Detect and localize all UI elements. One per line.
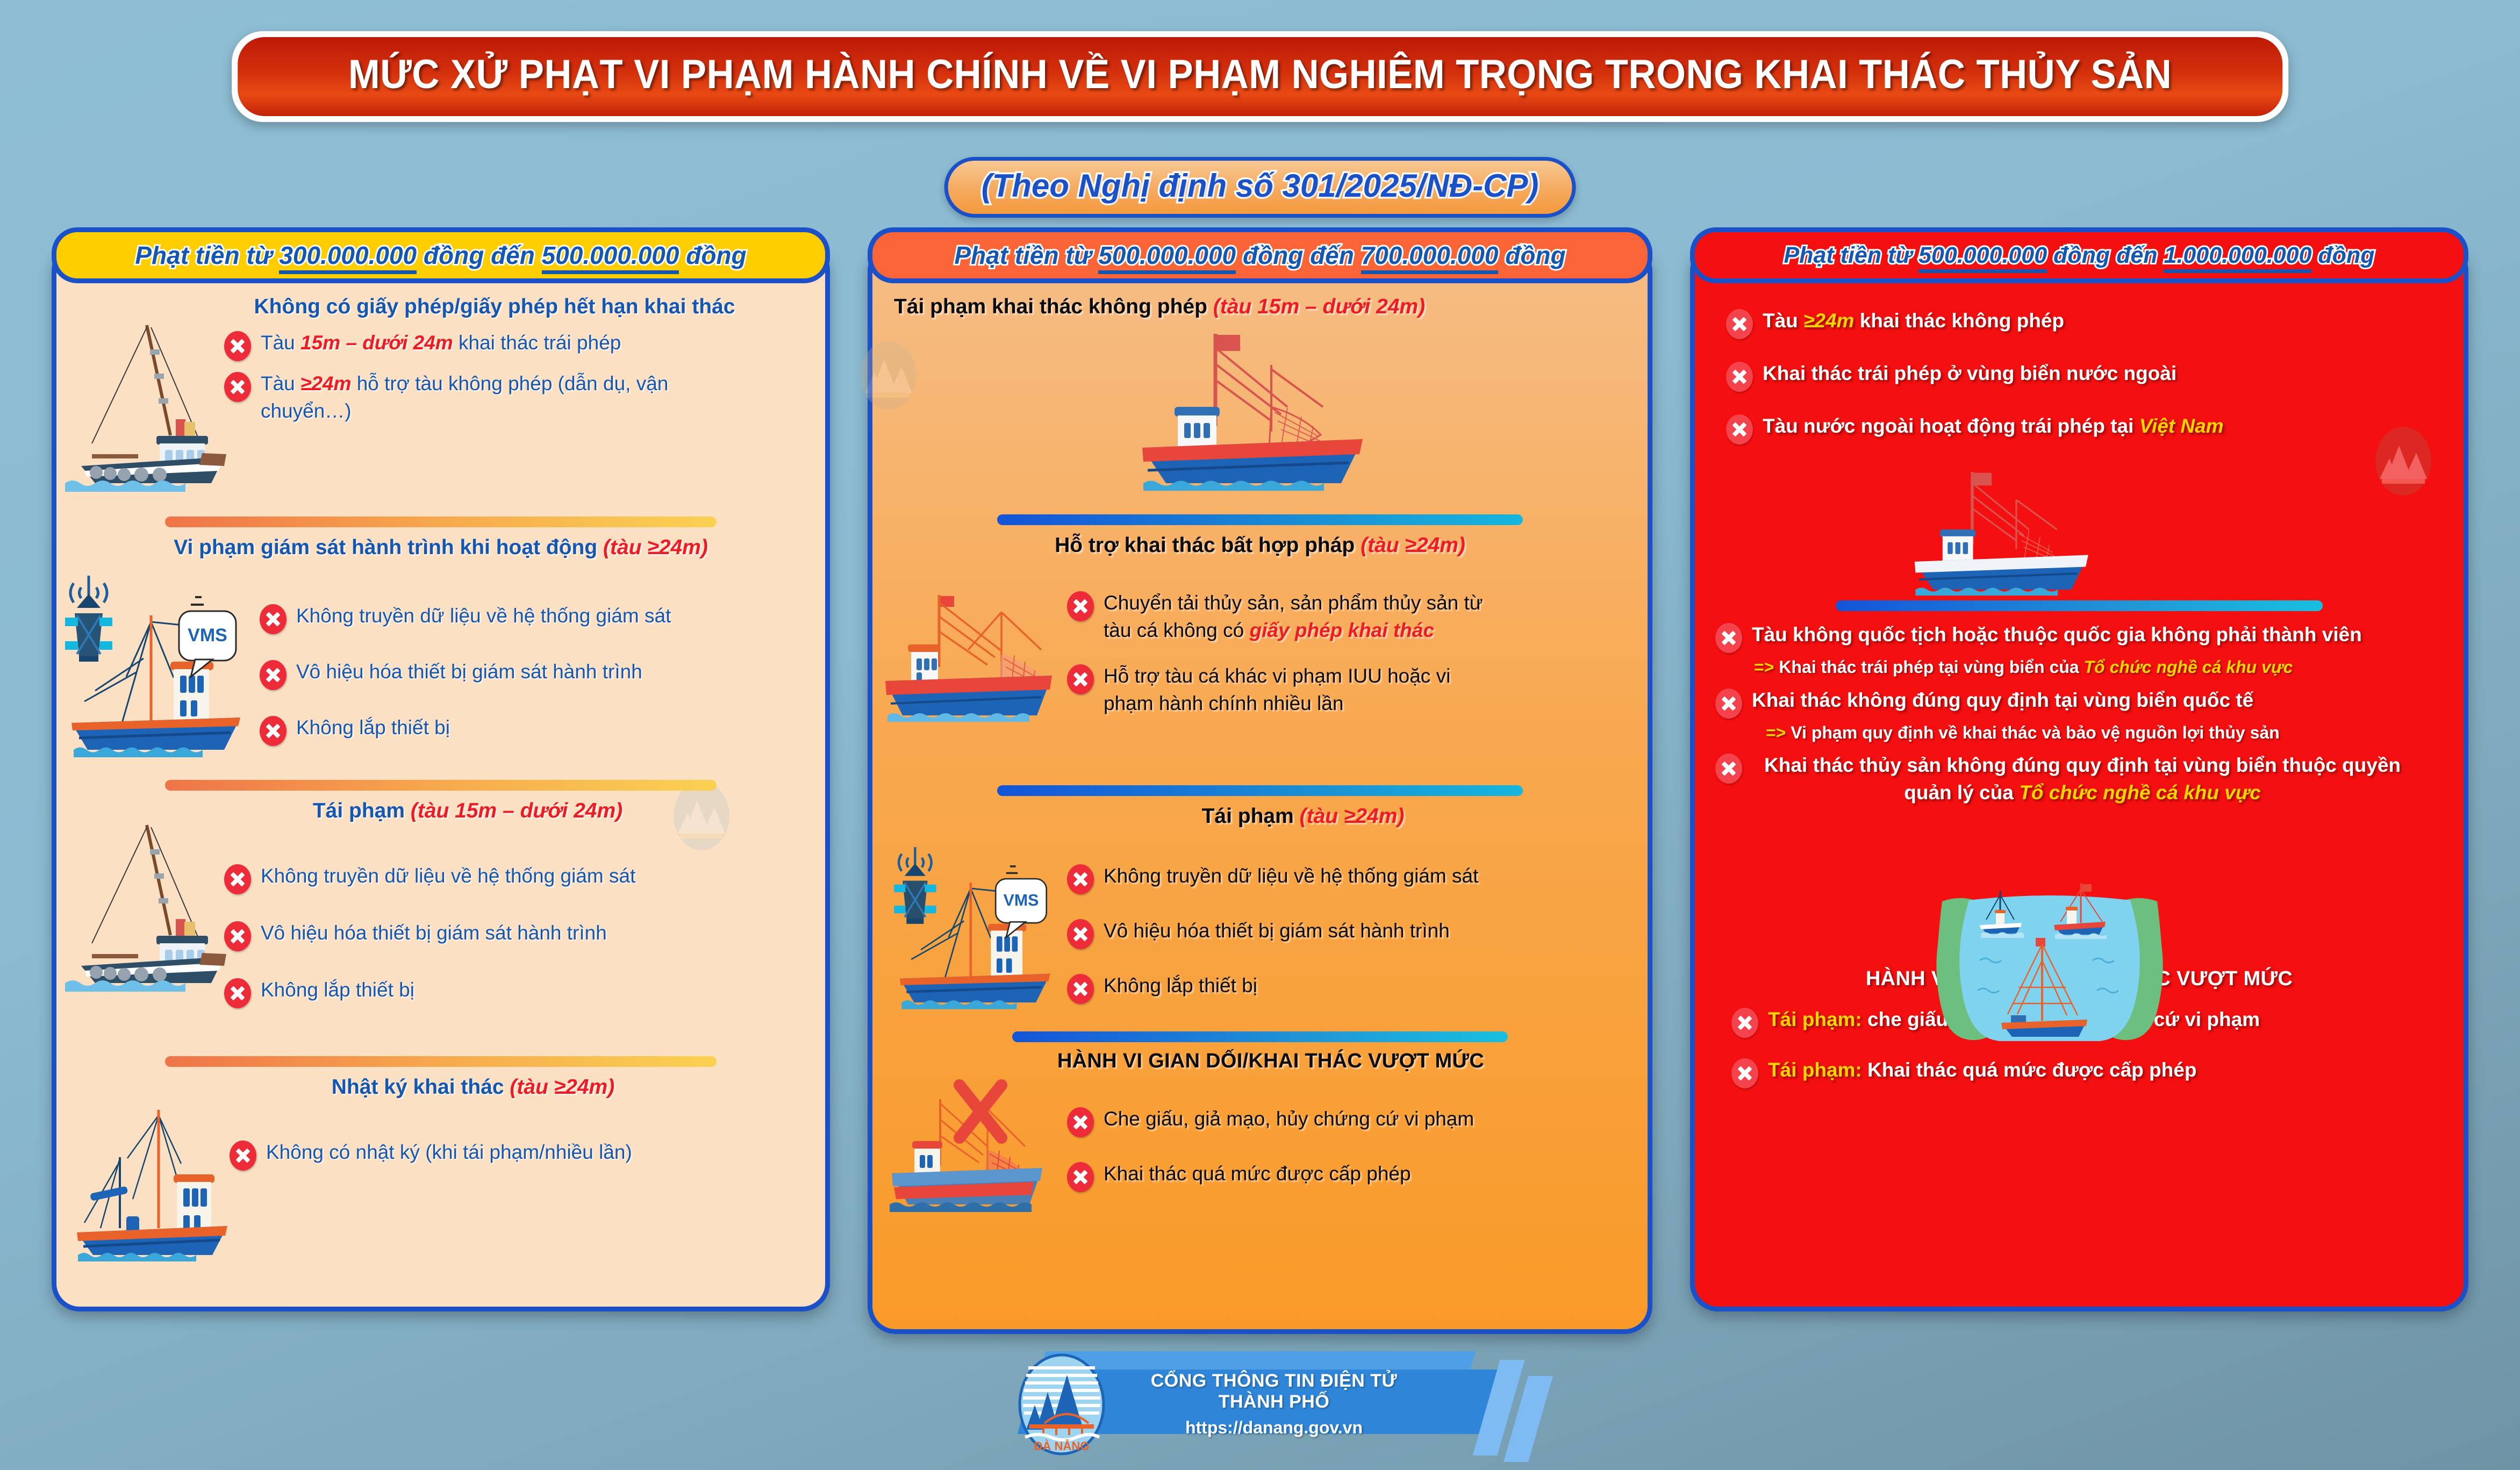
list-item-text: Không có nhật ký (khi tái phạm/nhiều lần…: [266, 1138, 632, 1166]
cross-icon: [1731, 1008, 1758, 1038]
list-item: Khai thác không đúng quy định tại vùng b…: [1715, 686, 2449, 719]
list-item: Tàu 15m – dưới 24m khai thác trái phép: [224, 329, 813, 361]
block-title: Nhật ký khai thác (tàu ≥24m): [68, 1074, 813, 1101]
cross-icon: [1067, 1162, 1094, 1192]
list-item-text: Không truyền dữ liệu về hệ thống giám sá…: [261, 862, 635, 890]
block-title: HÀNH VI GIAN DỐI/KHAI THÁC VƯỢT MỨC: [884, 1050, 1636, 1073]
list-item: Tàu không quốc tịch hoặc thuộc quốc gia …: [1715, 621, 2449, 653]
column-2-body: Tái phạm khai thác không phép (tàu 15m –…: [872, 294, 1648, 1227]
list-item-text: Vô hiệu hóa thiết bị giám sát hành trình: [261, 919, 607, 946]
list-item-text: Chuyển tải thủy sản, sản phẩm thủy sản t…: [1104, 589, 1512, 644]
title-banner-inner: MỨC XỬ PHẠT VI PHẠM HÀNH CHÍNH VỀ VI PHẠ…: [238, 37, 2282, 116]
list-item-text: Che giấu, giả mạo, hủy chứng cứ vi phạm: [1104, 1105, 1474, 1132]
list-item-text: Khai thác quá mức được cấp phép: [1104, 1160, 1411, 1187]
penalty-column-3: Phạt tiền từ 500.000.000 đồng đến 1.000.…: [1690, 243, 2468, 1311]
block-items: Không truyền dữ liệu về hệ thống giám sá…: [260, 602, 813, 746]
penalty-column-1: Phạt tiền từ 300.000.000 đồng đến 500.00…: [52, 243, 830, 1311]
columns-container: Phạt tiền từ 300.000.000 đồng đến 500.00…: [0, 243, 2520, 1334]
list-item: Tàu ≥24m hỗ trợ tàu không phép (dẫn dụ, …: [224, 370, 813, 425]
list-item-text: Không lắp thiết bị: [296, 714, 450, 741]
cross-icon: [1067, 864, 1094, 894]
block-items: Chuyển tải thủy sản, sản phẩm thủy sản t…: [1067, 589, 1636, 717]
cross-icon: [1067, 919, 1094, 949]
section-divider: [1836, 600, 2323, 611]
svg-text:VMS: VMS: [1004, 892, 1039, 909]
block-items: Che giấu, giả mạo, hủy chứng cứ vi phạm …: [1067, 1105, 1636, 1192]
block-fishing-logbook: Nhật ký khai thác (tàu ≥24m): [68, 1074, 813, 1279]
list-item: Không lắp thiết bị: [224, 976, 813, 1008]
cross-icon: [224, 331, 251, 361]
column-1-body: Không có giấy phép/giấy phép hết hạn kha…: [56, 294, 825, 1279]
block-title: Không có giấy phép/giấy phép hết hạn kha…: [68, 294, 813, 320]
list-item-text: Tàu ≥24m khai thác không phép: [1763, 307, 2064, 334]
list-item: Vô hiệu hóa thiết bị giám sát hành trình: [1067, 917, 1636, 949]
block-repeat-unlicensed: Tái phạm khai thác không phép (tàu 15m –…: [884, 294, 1636, 520]
logo-label: ĐÀ NẴNG: [1034, 1439, 1090, 1453]
column-3-bottom-items: Tái phạm: che giấu, giả mạo, hủy chứng c…: [1731, 1006, 2449, 1088]
bottom-title: HÀNH VI GIAN DỐI/KHAI THÁC VƯỢT MỨC: [1710, 967, 2449, 991]
block-vms-violation: Vi phạm giám sát hành trình khi hoạt độn…: [68, 535, 813, 782]
list-item: Vô hiệu hóa thiết bị giám sát hành trình: [224, 919, 813, 951]
cross-icon: [260, 660, 287, 690]
list-item-text: Tàu nước ngoài hoạt động trái phép tại V…: [1763, 412, 2224, 440]
cross-icon: [1067, 591, 1094, 621]
sub-note: => Khai thác trái phép tại vùng biển của…: [1754, 656, 2449, 679]
fishing-boat-icon: [68, 1094, 230, 1266]
list-item-text: Tàu ≥24m hỗ trợ tàu không phép (dẫn dụ, …: [261, 370, 669, 425]
section-divider: [165, 517, 717, 527]
list-item: Không lắp thiết bị: [1067, 972, 1636, 1004]
list-item-text: Tàu 15m – dưới 24m khai thác trái phép: [261, 329, 621, 356]
block-title: Hỗ trợ khai thác bất hợp pháp (tàu ≥24m): [884, 533, 1636, 559]
column-3-body: Tàu ≥24m khai thác không phép Khai thác …: [1695, 294, 2464, 1097]
block-no-license: Không có giấy phép/giấy phép hết hạn kha…: [68, 294, 813, 509]
list-item: Không lắp thiết bị: [260, 714, 813, 746]
list-item: Tái phạm: che giấu, giả mạo, hủy chứng c…: [1731, 1006, 2449, 1038]
footer-text: CỔNG THÔNG TIN ĐIỆN TỬ THÀNH PHỐ https:/…: [1123, 1371, 1424, 1438]
column-2-header-text: Phạt tiền từ 500.000.000 đồng đến 700.00…: [954, 241, 1565, 270]
block-fraud-overfishing: HÀNH VI GIAN DỐI/KHAI THÁC VƯỢT MỨC: [884, 1050, 1636, 1227]
list-item: Không truyền dữ liệu về hệ thống giám sá…: [1067, 862, 1636, 894]
cross-icon: [224, 372, 251, 402]
block-illegal-support: Hỗ trợ khai thác bất hợp pháp (tàu ≥24m): [884, 533, 1636, 785]
list-item: Hỗ trợ tàu cá khác vi phạm IUU hoặc vi p…: [1067, 662, 1636, 717]
danang-logo-icon: ĐÀ NẴNG: [1013, 1353, 1110, 1455]
page-title: MỨC XỬ PHẠT VI PHẠM HÀNH CHÍNH VỀ VI PHẠ…: [348, 51, 2172, 98]
footer-branding: ĐÀ NẴNG CỔNG THÔNG TIN ĐIỆN TỬ THÀNH PHỐ…: [962, 1344, 1559, 1465]
cross-icon: [1067, 974, 1094, 1004]
list-item: Vô hiệu hóa thiết bị giám sát hành trình: [260, 658, 813, 690]
list-item-text: Vô hiệu hóa thiết bị giám sát hành trình: [1104, 917, 1450, 944]
cross-icon: [1726, 414, 1753, 444]
column-3-top-items: Tàu ≥24m khai thác không phép Khai thác …: [1726, 307, 2449, 444]
block-items: Không có nhật ký (khi tái phạm/nhiều lần…: [230, 1138, 813, 1171]
cross-icon: [1715, 754, 1742, 784]
block-repeat-violation: Tái phạm (tàu 15m – dưới 24m): [68, 798, 813, 1056]
list-item: Không truyền dữ liệu về hệ thống giám sá…: [224, 862, 813, 894]
svg-text:VMS: VMS: [188, 625, 227, 646]
list-item: Khai thác trái phép ở vùng biển nước ngo…: [1726, 360, 2449, 392]
list-item: Tàu ≥24m khai thác không phép: [1726, 307, 2449, 339]
cross-icon: [1726, 309, 1753, 339]
footer-line-1: CỔNG THÔNG TIN ĐIỆN TỬ THÀNH PHỐ: [1123, 1371, 1424, 1412]
column-2-header: Phạt tiền từ 500.000.000 đồng đến 700.00…: [868, 227, 1652, 283]
column-3-header: Phạt tiền từ 500.000.000 đồng đến 1.000.…: [1690, 227, 2468, 283]
column-1-header: Phạt tiền từ 300.000.000 đồng đến 500.00…: [52, 227, 830, 283]
list-item-text: Vô hiệu hóa thiết bị giám sát hành trình: [296, 658, 642, 685]
list-item: Che giấu, giả mạo, hủy chứng cứ vi phạm: [1067, 1105, 1636, 1137]
list-item: Khai thác quá mức được cấp phép: [1067, 1160, 1636, 1192]
section-divider: [165, 1056, 717, 1067]
cross-icon: [1067, 1107, 1094, 1137]
list-item-text: Tái phạm: che giấu, giả mạo, hủy chứng c…: [1768, 1006, 2260, 1033]
cross-icon: [260, 604, 287, 634]
title-banner: MỨC XỬ PHẠT VI PHẠM HÀNH CHÍNH VỀ VI PHẠ…: [232, 31, 2288, 122]
list-item: Chuyển tải thủy sản, sản phẩm thủy sản t…: [1067, 589, 1636, 644]
list-item: Khai thác thủy sản không đúng quy định t…: [1715, 751, 2449, 806]
block-items: Không truyền dữ liệu về hệ thống giám sá…: [1067, 862, 1636, 1004]
list-item-text: Khai thác không đúng quy định tại vùng b…: [1752, 686, 2253, 714]
list-item-text: Không truyền dữ liệu về hệ thống giám sá…: [296, 602, 671, 629]
cross-icon: [224, 978, 251, 1008]
cross-icon: [1715, 623, 1742, 653]
cross-icon: [1731, 1058, 1758, 1088]
block-title: Tái phạm (tàu ≥24m): [884, 804, 1636, 830]
subtitle-text: (Theo Nghị định số 301/2025/NĐ-CP): [982, 167, 1539, 204]
trawler-boat-icon: [1856, 466, 2168, 606]
list-item-text: Hỗ trợ tàu cá khác vi phạm IUU hoặc vi p…: [1104, 662, 1501, 717]
list-item: Tàu nước ngoài hoạt động trái phép tại V…: [1726, 412, 2449, 444]
cross-icon: [224, 921, 251, 951]
penalty-column-2: Phạt tiền từ 500.000.000 đồng đến 700.00…: [868, 243, 1652, 1334]
list-item-text: Không truyền dữ liệu về hệ thống giám sá…: [1104, 862, 1478, 890]
block-items: Không truyền dữ liệu về hệ thống giám sá…: [224, 862, 813, 1008]
list-item: Không truyền dữ liệu về hệ thống giám sá…: [260, 602, 813, 634]
section-divider: [997, 785, 1523, 796]
subtitle-pill: (Theo Nghị định số 301/2025/NĐ-CP): [944, 157, 1576, 218]
vms-boat-antenna-icon: VMS: [63, 562, 267, 761]
cross-icon: [1726, 362, 1753, 392]
list-item-text: Khai thác trái phép ở vùng biển nước ngo…: [1763, 360, 2177, 387]
cross-icon: [1715, 689, 1742, 719]
list-item-text: Khai thác thủy sản không đúng quy định t…: [1752, 751, 2413, 806]
list-item: Không có nhật ký (khi tái phạm/nhiều lần…: [230, 1138, 813, 1171]
cross-icon: [224, 864, 251, 894]
trawler-net-boat-icon: [880, 586, 1095, 748]
block-title: Tái phạm (tàu 15m – dưới 24m): [68, 798, 813, 824]
cross-icon: [1067, 664, 1094, 694]
list-item-text: Tái phạm: Khai thác quá mức được cấp phé…: [1768, 1056, 2196, 1084]
fishing-boat-icon: [65, 814, 226, 997]
block-items: Tàu 15m – dưới 24m khai thác trái phép T…: [224, 329, 813, 425]
vms-boat-antenna-icon: VMS: [881, 835, 1085, 1012]
list-item-text: Tàu không quốc tịch hoặc thuộc quốc gia …: [1752, 621, 2362, 648]
list-item-text: Không lắp thiết bị: [1104, 972, 1257, 999]
block-title: Vi phạm giám sát hành trình khi hoạt độn…: [68, 535, 813, 561]
trawler-boat-icon: [1110, 326, 1422, 504]
column-1-header-text: Phạt tiền từ 300.000.000 đồng đến 500.00…: [135, 241, 746, 270]
column-3-mid-items: Tàu không quốc tịch hoặc thuộc quốc gia …: [1715, 621, 2449, 806]
block-title: Tái phạm khai thác không phép (tàu 15m –…: [884, 294, 1636, 320]
list-item: Tái phạm: Khai thác quá mức được cấp phé…: [1731, 1056, 2449, 1088]
column-3-header-text: Phạt tiền từ 500.000.000 đồng đến 1.000.…: [1784, 242, 2375, 269]
footer-line-2: https://danang.gov.vn: [1123, 1418, 1424, 1438]
cross-icon: [230, 1141, 256, 1171]
sub-note: => Vi phạm quy định về khai thác và bảo …: [1766, 722, 2449, 744]
block-repeat-vms: Tái phạm (tàu ≥24m): [884, 804, 1636, 1035]
fishing-boat-icon: [65, 320, 226, 492]
cross-icon: [260, 716, 287, 746]
list-item-text: Không lắp thiết bị: [261, 976, 414, 1003]
